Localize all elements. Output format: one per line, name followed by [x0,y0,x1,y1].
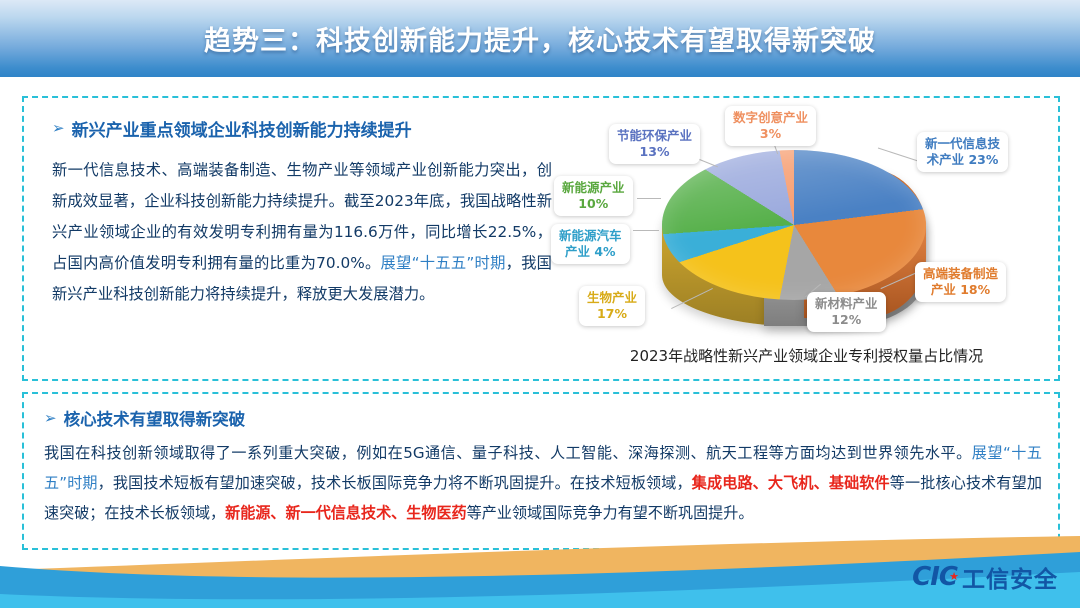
cic-logo: CIC ★ 工信安全 [912,560,1058,594]
logo-mark-text: CIC ★ [912,562,957,592]
pie-label-bio-name: 生物产业 [587,290,637,306]
pie-label-new-energy-vehicle-name: 新能源汽车 [559,228,622,244]
pie-label-new-energy-value: 10% [562,196,625,212]
pie-chart-figure: 数字创意产业 3% 节能环保产业 13% 新一代信息技 术产业 23% 新能源产… [559,102,1054,377]
pie-label-new-energy-vehicle: 新能源汽车 产业 4% [551,224,630,264]
top-paragraph-highlight: 展望“十五五”时期 [381,254,506,272]
pie-label-energy-saving-value: 13% [617,144,692,160]
leader-line-newenergy [637,198,661,199]
chart-caption: 2023年战略性新兴产业领域企业专利授权量占比情况 [559,345,1054,366]
pie-label-new-energy: 新能源产业 10% [554,176,633,216]
pie-label-highend-equipment-name: 高端装备制造 [923,266,998,282]
pie-label-digital-creative-name: 数字创意产业 [733,110,808,126]
top-section-heading-label: 新兴产业重点领域企业科技创新能力持续提升 [72,116,412,141]
logo-star-icon: ★ [949,570,958,583]
bottom-text-column: ➢ 核心技术有望取得新突破 我国在科技创新领域取得了一系列重大突破，例如在5G通… [44,406,1042,528]
bottom-seg6-red: 新能源、新一代信息技术、生物医药 [225,504,467,522]
pie-label-highend-equipment-value: 产业 18% [923,282,998,298]
bottom-section-heading-label: 核心技术有望取得新突破 [64,406,246,430]
slide-header: 趋势三：科技创新能力提升，核心技术有望取得新突破 [0,0,1080,77]
bottom-content-panel: ➢ 核心技术有望取得新突破 我国在科技创新领域取得了一系列重大突破，例如在5G通… [22,392,1060,550]
page-title: 趋势三：科技创新能力提升，核心技术有望取得新突破 [204,19,876,58]
pie-label-energy-saving-name: 节能环保产业 [617,128,692,144]
pie-label-bio-value: 17% [587,306,637,322]
leader-line-newenergy-auto [633,230,659,231]
bottom-seg1: 我国在科技创新领域取得了一系列重大突破，例如在5G通信、量子科技、人工智能、深海… [44,444,972,462]
pie-label-info-tech: 新一代信息技 术产业 23% [917,132,1008,172]
pie-label-info-tech-value: 术产业 23% [925,152,1000,168]
pie-label-highend-equipment: 高端装备制造 产业 18% [915,262,1006,302]
pie-label-new-energy-vehicle-value: 产业 4% [559,244,622,260]
top-content-panel: ➢ 新兴产业重点领域企业科技创新能力持续提升 新一代信息技术、高端装备制造、生物… [22,96,1060,381]
bottom-seg4-red: 集成电路、大飞机、基础软件 [692,474,890,492]
pie-label-digital-creative: 数字创意产业 3% [725,106,816,146]
pie-label-new-material: 新材料产业 12% [807,292,886,332]
arrow-bullet-icon: ➢ [52,121,65,136]
bottom-section-paragraph: 我国在科技创新领域取得了一系列重大突破，例如在5G通信、量子科技、人工智能、深海… [44,438,1042,528]
slide-footer: CIC ★ 工信安全 [0,536,1080,608]
top-left-text-column: ➢ 新兴产业重点领域企业科技创新能力持续提升 新一代信息技术、高端装备制造、生物… [52,116,552,310]
pie-label-digital-creative-value: 3% [733,126,808,142]
pie-label-bio: 生物产业 17% [579,286,645,326]
bottom-seg7: 等产业领域国际竞争力有望不断巩固提升。 [467,504,754,522]
arrow-bullet-icon: ➢ [44,411,57,426]
pie-label-new-energy-name: 新能源产业 [562,180,625,196]
logo-chinese-label: 工信安全 [962,560,1058,594]
pie-label-energy-saving: 节能环保产业 13% [609,124,700,164]
pie-label-new-material-name: 新材料产业 [815,296,878,312]
pie-label-new-material-value: 12% [815,312,878,328]
top-section-heading: ➢ 新兴产业重点领域企业科技创新能力持续提升 [52,116,552,141]
bottom-section-heading: ➢ 核心技术有望取得新突破 [44,406,1042,430]
pie-label-info-tech-name: 新一代信息技 [925,136,1000,152]
pie-slices [662,150,926,300]
top-section-paragraph: 新一代信息技术、高端装备制造、生物产业等领域产业创新能力突出，创新成效显著，企业… [52,155,552,310]
bottom-seg3: ，我国技术短板有望加速突破，技术长板国际竞争力将不断巩固提升。在技术短板领域， [98,474,692,492]
